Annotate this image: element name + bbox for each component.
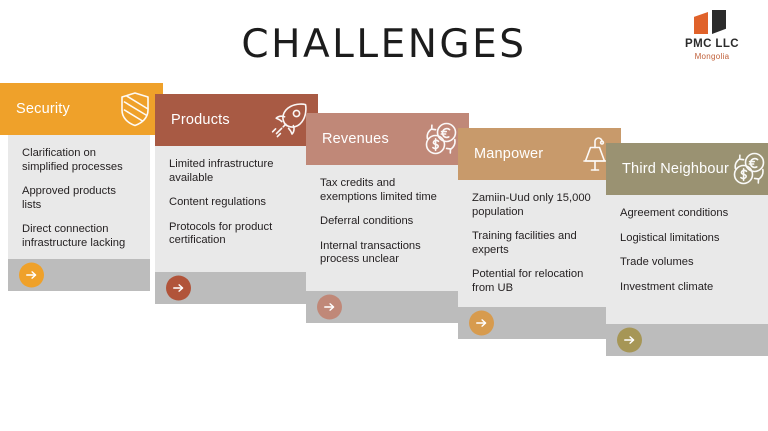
slide-canvas: CHALLENGES PMC LLC Mongolia SecurityClar…: [0, 0, 768, 431]
card-bullet: Trade volumes: [620, 256, 754, 270]
card-footer-manpower: [458, 307, 610, 339]
card-bullet: Internal transactions process unclear: [320, 240, 444, 267]
card-header-revenues[interactable]: Revenues: [306, 113, 469, 165]
card-title-products: Products: [171, 112, 230, 128]
shield-icon: [115, 89, 155, 129]
card-bullet: Training facilities and experts: [472, 230, 596, 257]
card-header-third-neighbour[interactable]: Third Neighbour: [606, 143, 768, 195]
next-button-products[interactable]: [166, 276, 191, 301]
card-title-security: Security: [16, 101, 70, 117]
card-footer-revenues: [306, 291, 458, 323]
card-bullet: Zamiin-Uud only 15,000 population: [472, 192, 596, 219]
card-bullet: Direct connection infrastructure lacking: [22, 223, 136, 250]
page-title: CHALLENGES: [0, 22, 768, 67]
next-button-third-neighbour[interactable]: [617, 328, 642, 353]
card-bullet: Logistical limitations: [620, 232, 754, 246]
next-button-manpower[interactable]: [469, 311, 494, 336]
card-bullet: Investment climate: [620, 281, 754, 295]
card-title-third-neighbour: Third Neighbour: [622, 161, 729, 177]
card-bullet: Approved products lists: [22, 185, 136, 212]
card-bullet: Clarification on simplified processes: [22, 147, 136, 174]
card-title-manpower: Manpower: [474, 146, 543, 162]
company-logo: PMC LLC Mongolia: [670, 8, 754, 62]
card-footer-security: [8, 259, 150, 291]
next-button-revenues[interactable]: [317, 295, 342, 320]
card-title-revenues: Revenues: [322, 131, 389, 147]
card-footer-third-neighbour: [606, 324, 768, 356]
currency-exchange-icon: [421, 119, 461, 159]
card-footer-products: [155, 272, 307, 304]
card-bullet: Protocols for product certification: [169, 221, 293, 248]
card-bullet: Agreement conditions: [620, 207, 754, 221]
card-bullet: Deferral conditions: [320, 215, 444, 229]
rocket-icon: [270, 100, 310, 140]
card-bullet: Tax credits and exemptions limited time: [320, 177, 444, 204]
next-button-security[interactable]: [19, 263, 44, 288]
arrow-right-icon: [322, 300, 337, 315]
arrow-right-icon: [24, 268, 39, 283]
card-bullet: Potential for relocation from UB: [472, 268, 596, 295]
logo-company-name: PMC LLC: [670, 38, 754, 51]
logo-mark-icon: [689, 8, 735, 36]
card-header-products[interactable]: Products: [155, 94, 318, 146]
card-header-manpower[interactable]: Manpower: [458, 128, 621, 180]
card-bullet: Content regulations: [169, 196, 293, 210]
logo-shape-dark: [712, 10, 726, 34]
card-header-security[interactable]: Security: [0, 83, 163, 135]
arrow-right-icon: [474, 316, 489, 331]
arrow-right-icon: [171, 281, 186, 296]
arrow-right-icon: [622, 333, 637, 348]
card-bullet: Limited infrastructure available: [169, 158, 293, 185]
logo-shape-orange: [694, 12, 708, 34]
currency-exchange-icon: [729, 149, 768, 189]
logo-company-subtitle: Mongolia: [670, 51, 754, 62]
